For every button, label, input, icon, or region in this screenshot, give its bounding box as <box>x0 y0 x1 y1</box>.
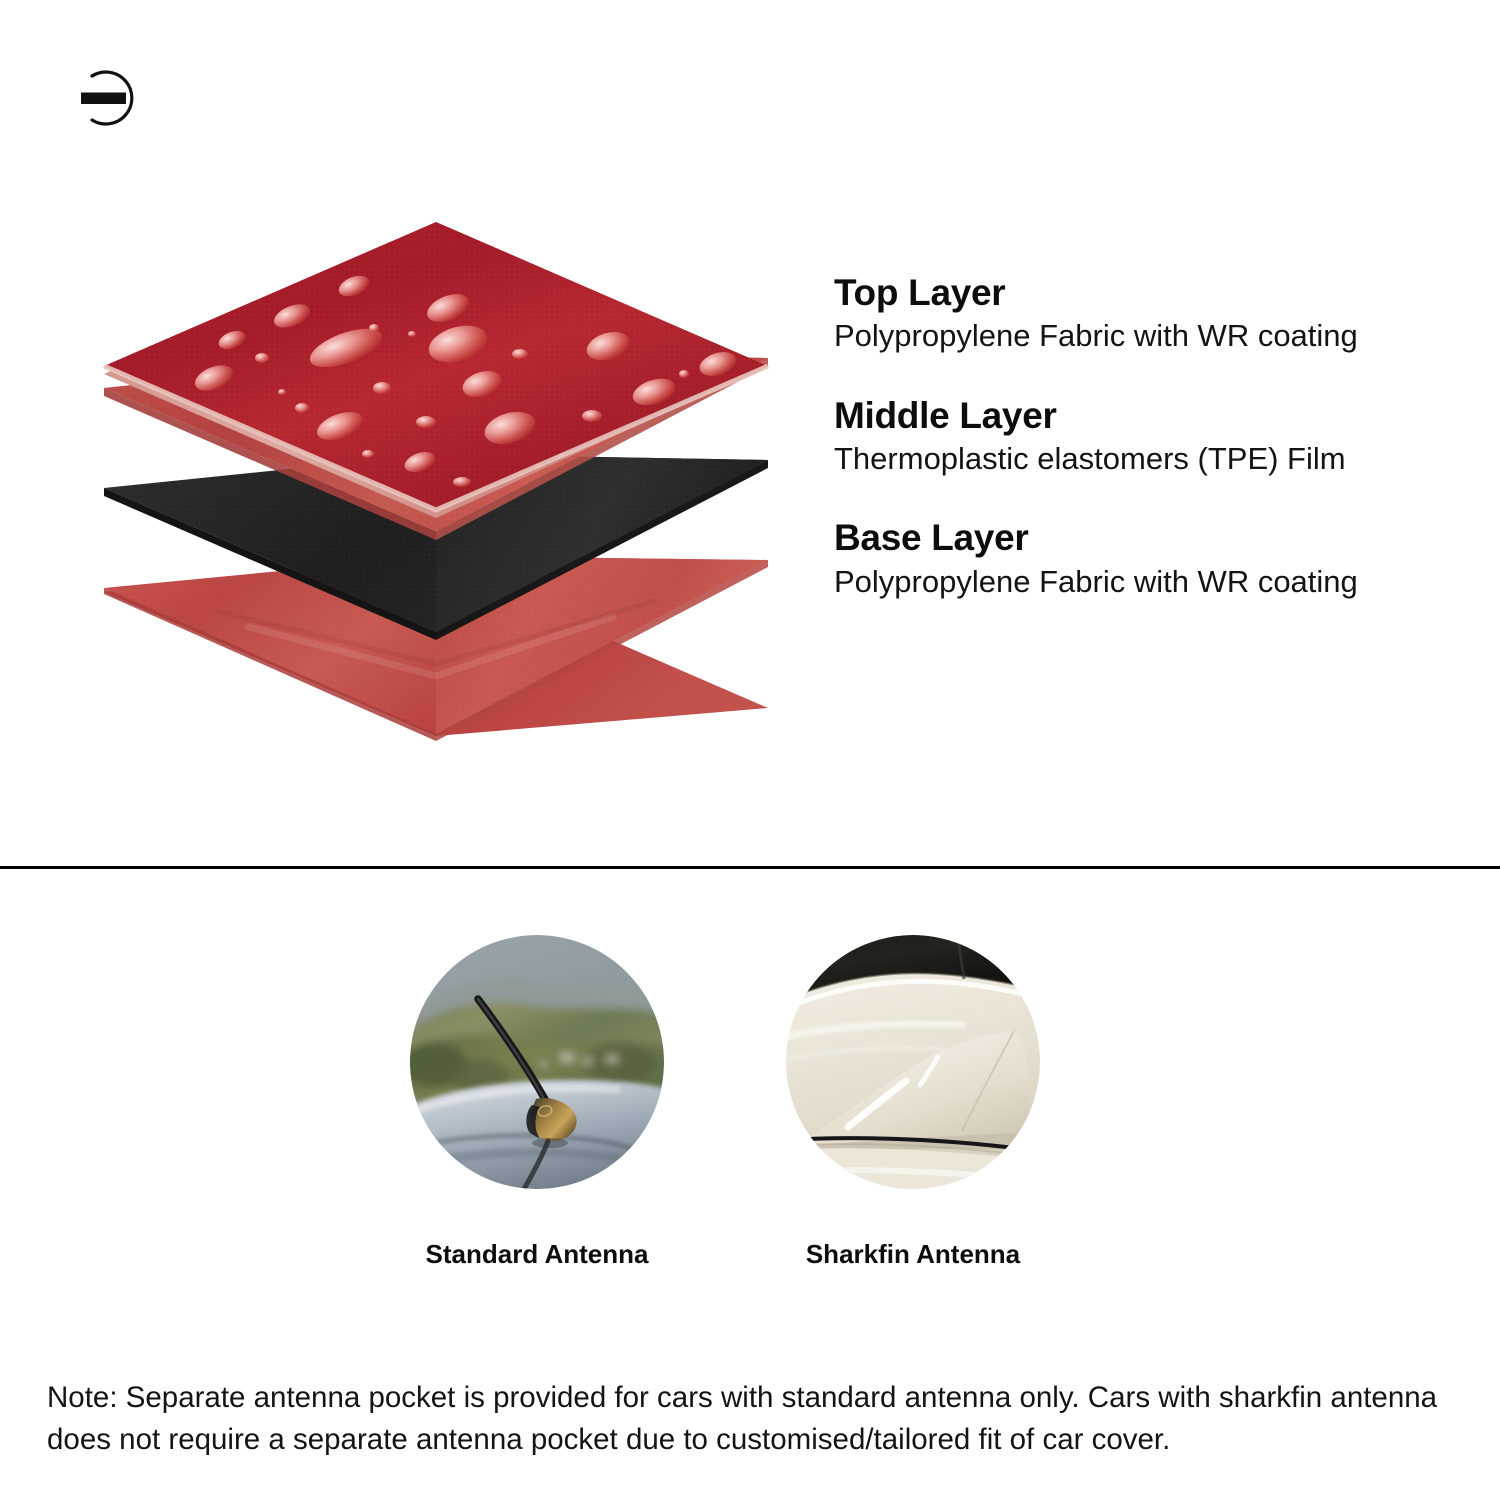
layer-info-list: Top Layer Polypropylene Fabric with WR c… <box>834 272 1474 600</box>
fabric-layers-section: Top Layer Polypropylene Fabric with WR c… <box>0 0 1500 868</box>
layer-desc-top: Polypropylene Fabric with WR coating <box>834 317 1474 354</box>
sharkfin-antenna-icon <box>786 935 1040 1189</box>
layer-title-base: Base Layer <box>834 517 1474 558</box>
layer-info-top: Top Layer Polypropylene Fabric with WR c… <box>834 272 1474 355</box>
antenna-caption-standard: Standard Antenna <box>426 1239 649 1270</box>
antenna-item-standard: Standard Antenna <box>410 935 664 1270</box>
layer-desc-middle: Thermoplastic elastomers (TPE) Film <box>834 440 1474 477</box>
antenna-row: Standard Antenna <box>410 935 1090 1270</box>
layer-title-middle: Middle Layer <box>834 395 1474 436</box>
fabric-layer-stack-icon <box>96 196 796 766</box>
antenna-item-sharkfin: Sharkfin Antenna <box>786 935 1040 1270</box>
layer-info-base: Base Layer Polypropylene Fabric with WR … <box>834 517 1474 600</box>
antenna-caption-sharkfin: Sharkfin Antenna <box>806 1239 1020 1270</box>
fabric-layer-stack-diagram <box>96 196 796 766</box>
standard-whip-antenna-icon <box>410 935 664 1189</box>
sharkfin-antenna-photo <box>786 935 1040 1189</box>
layer-title-top: Top Layer <box>834 272 1474 313</box>
layer-desc-base: Polypropylene Fabric with WR coating <box>834 563 1474 600</box>
antenna-pocket-note: Note: Separate antenna pocket is provide… <box>47 1377 1459 1461</box>
standard-antenna-photo <box>410 935 664 1189</box>
layer-info-middle: Middle Layer Thermoplastic elastomers (T… <box>834 395 1474 478</box>
